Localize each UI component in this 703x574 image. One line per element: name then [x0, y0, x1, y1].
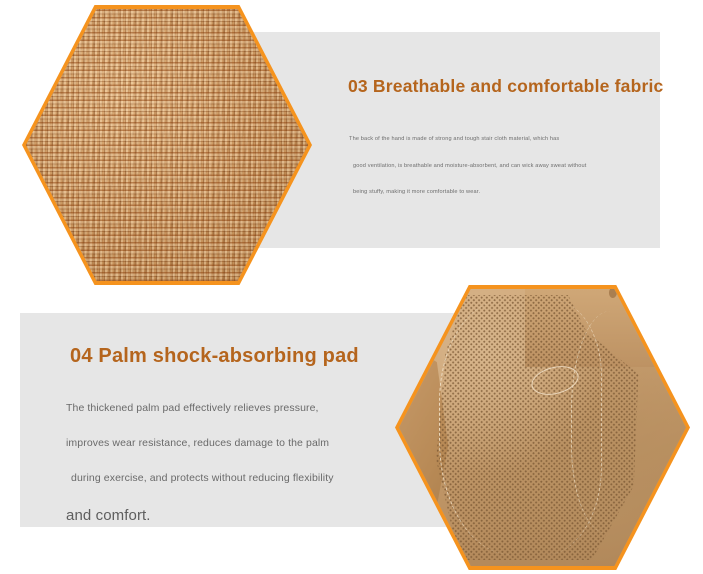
- section-03-body: The back of the hand is made of strong a…: [349, 137, 649, 217]
- hexagon-image-clip: [399, 289, 686, 566]
- product-feature-page: 03 Breathable and comfortable fabric The…: [0, 0, 703, 574]
- section-04-heading: 04 Palm shock-absorbing pad: [70, 345, 359, 368]
- section-04-body-line-4: and comfort.: [66, 508, 406, 524]
- section-03-heading: 03 Breathable and comfortable fabric: [348, 76, 663, 97]
- ribbed-fabric-texture: [26, 9, 308, 281]
- section-03-body-line-3: being stuffy, making it more comfortable…: [349, 190, 649, 196]
- finger-gap: [637, 289, 646, 298]
- section-03-body-line-2: good ventilation, is breathable and mois…: [349, 164, 649, 170]
- breathable-fabric-hexagon-image: [22, 5, 312, 285]
- hexagon-image-clip: [26, 9, 308, 281]
- section-03-body-line-1: The back of the hand is made of strong a…: [349, 137, 649, 143]
- section-04-body-line-2: improves wear resistance, reduces damage…: [66, 438, 406, 449]
- section-04-body-line-3: during exercise, and protects without re…: [66, 473, 406, 484]
- section-04-body-line-1: The thickened palm pad effectively relie…: [66, 403, 406, 414]
- glove-palm-texture: [399, 289, 686, 566]
- section-04-body: The thickened palm pad effectively relie…: [66, 403, 406, 524]
- palm-pad-hexagon-image: [395, 285, 690, 570]
